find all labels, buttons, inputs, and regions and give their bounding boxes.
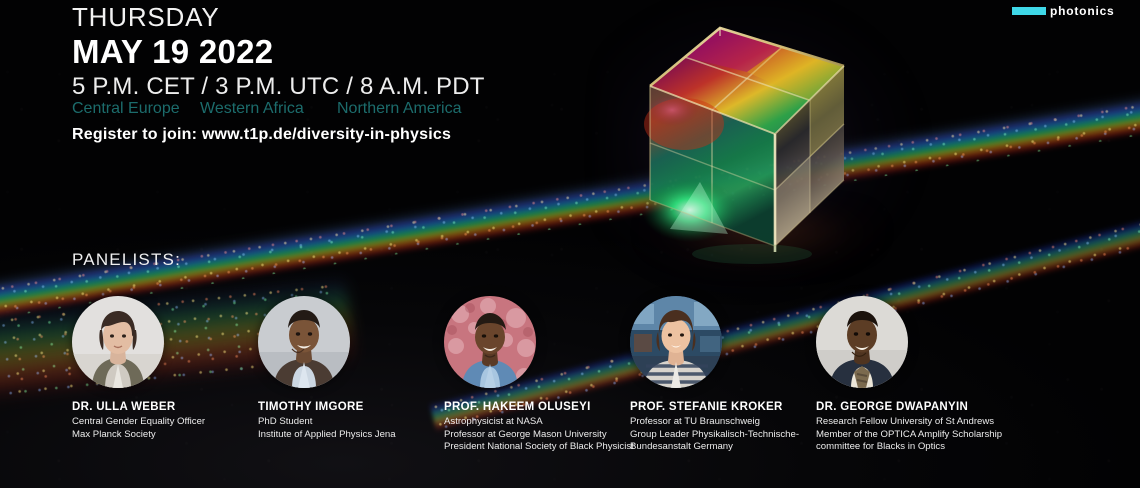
- avatar: [816, 296, 908, 388]
- panelist-name: PROF. STEFANIE KROKER: [630, 401, 820, 413]
- panelist-desc-line: Professor at George Mason University: [444, 429, 634, 442]
- panelist-name: DR. GEORGE DWAPANYIN: [816, 401, 1006, 413]
- panelist-desc-line: President National Society of Black Phys…: [444, 441, 634, 454]
- panelist-desc-line: Central Gender Equality Officer: [72, 416, 262, 429]
- event-timezones: Central Europe Western Africa Northern A…: [72, 100, 672, 120]
- panelist-description: Central Gender Equality Officer Max Plan…: [72, 416, 262, 441]
- registration-link[interactable]: Register to join: www.t1p.de/diversity-i…: [72, 126, 672, 144]
- event-headline-block: THURSDAY MAY 19 2022 5 P.M. CET / 3 P.M.…: [72, 2, 672, 144]
- logo-row-2: photonics: [1012, 3, 1128, 20]
- panelist-description: Astrophysicist at NASA Professor at Geor…: [444, 416, 634, 454]
- panelist-desc-line: Research Fellow University of St Andrews: [816, 416, 1006, 429]
- panelist-desc-line: Bundesanstalt Germany: [630, 441, 820, 454]
- panelist-desc-line: Institute of Applied Physics Jena: [258, 429, 448, 442]
- avatar: [444, 296, 536, 388]
- timezone-northern-america: Northern America: [337, 100, 462, 118]
- panelist-card-5: DR. GEORGE DWAPANYIN Research Fellow Uni…: [816, 296, 1006, 454]
- panelist-desc-line: Astrophysicist at NASA: [444, 416, 634, 429]
- panelist-desc-line: Group Leader Physikalisch-Technische-: [630, 429, 820, 442]
- panelists-label: PANELISTS:: [72, 250, 181, 270]
- panelist-name: TIMOTHY IMGORE: [258, 401, 448, 413]
- avatar: [630, 296, 722, 388]
- panelist-card-3: PROF. HAKEEM OLUSEYI Astrophysicist at N…: [444, 296, 634, 454]
- event-times: 5 P.M. CET / 3 P.M. UTC / 8 A.M. PDT: [72, 73, 672, 101]
- webinar-banner: THURSDAY MAY 19 2022 5 P.M. CET / 3 P.M.…: [0, 0, 1140, 488]
- panelists-row: DR. ULLA WEBER Central Gender Equality O…: [0, 296, 1140, 486]
- panelist-card-1: DR. ULLA WEBER Central Gender Equality O…: [72, 296, 262, 441]
- avatar: [258, 296, 350, 388]
- logo-bar-icon-2: [1012, 7, 1046, 15]
- timezone-western-africa: Western Africa: [200, 100, 304, 118]
- panelist-card-2: TIMOTHY IMGORE PhD Student Institute of …: [258, 296, 448, 441]
- logo-word-of: of: [1094, 0, 1107, 2]
- panelist-description: PhD Student Institute of Applied Physics…: [258, 416, 448, 441]
- panelist-desc-line: PhD Student: [258, 416, 448, 429]
- event-weekday: THURSDAY: [72, 2, 672, 32]
- panelist-desc-line: committee for Blacks in Optics: [816, 441, 1006, 454]
- panelist-desc-line: Member of the OPTICA Amplify Scholarship: [816, 429, 1006, 442]
- panelist-desc-line: Professor at TU Braunschweig: [630, 416, 820, 429]
- panelist-desc-line: Max Planck Society: [72, 429, 262, 442]
- panelist-card-4: PROF. STEFANIE KROKER Professor at TU Br…: [630, 296, 820, 454]
- timezone-central-europe: Central Europe: [72, 100, 180, 118]
- avatar: [72, 296, 164, 388]
- logo-word-photonics: photonics: [1050, 3, 1115, 19]
- panelist-description: Professor at TU Braunschweig Group Leade…: [630, 416, 820, 454]
- panelist-name: PROF. HAKEEM OLUSEYI: [444, 401, 634, 413]
- event-date: MAY 19 2022: [72, 33, 672, 71]
- photonics-logo[interactable]: of photonics: [1012, 0, 1128, 24]
- panelist-name: DR. ULLA WEBER: [72, 401, 262, 413]
- panelist-description: Research Fellow University of St Andrews…: [816, 416, 1006, 454]
